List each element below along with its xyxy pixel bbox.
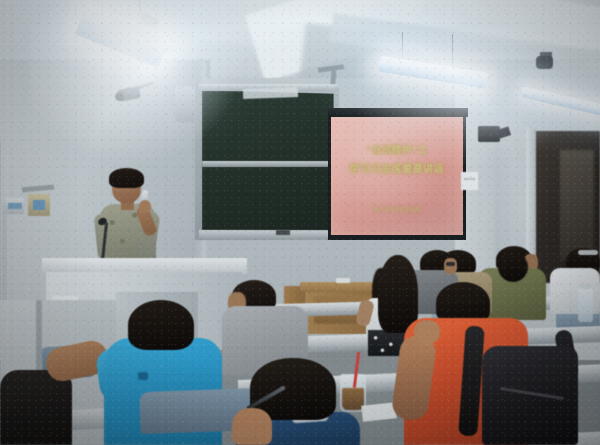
- backpack: [482, 346, 578, 445]
- light-suspension-wire: [452, 34, 453, 70]
- wall-speaker-icon: [478, 126, 500, 142]
- blackboard-bottom-trim: [199, 230, 339, 240]
- doorway-interior: [560, 150, 594, 260]
- wall-sign-text: NOTICE: [462, 177, 477, 181]
- slide-subtitle: 学习习主席重要讲话: [331, 161, 463, 175]
- classroom-photo: “五四精神”之 学习习主席重要讲话 电气学院学生党支部 NOTICE: [0, 0, 600, 445]
- desk-item: [336, 278, 350, 283]
- chalk-eraser: [276, 230, 290, 235]
- wall-sign: [461, 172, 478, 190]
- presenter-hair: [109, 168, 144, 188]
- glasses-icon: [446, 262, 455, 266]
- projection-screen: “五四精神”之 学习习主席重要讲话 电气学院学生党支部: [331, 117, 463, 235]
- glasses-icon: [578, 250, 598, 255]
- camera-lens-icon: [115, 92, 124, 101]
- shirt-logo: [138, 372, 148, 380]
- water-bottle: [578, 288, 593, 322]
- student-hand-holding-pen: [232, 408, 272, 445]
- blackboard-slider-panel: [243, 87, 298, 99]
- wall-conduit: [2, 205, 7, 315]
- bottle-cap: [580, 284, 591, 289]
- student-face: [444, 258, 457, 274]
- student-hand: [414, 320, 440, 344]
- panel-indicator-icon: [33, 200, 45, 210]
- surveillance-camera-icon: [536, 56, 553, 69]
- screen-glare: [331, 117, 463, 235]
- student-head: [498, 252, 528, 282]
- panel-indicator-icon: [8, 203, 22, 209]
- slide-title: “五四精神”之: [331, 143, 463, 156]
- student-hair: [128, 300, 194, 350]
- blackboard-chalk-rail: [202, 161, 333, 167]
- slide-footer: 电气学院学生党支部: [331, 207, 463, 213]
- presenter-hand: [139, 200, 151, 213]
